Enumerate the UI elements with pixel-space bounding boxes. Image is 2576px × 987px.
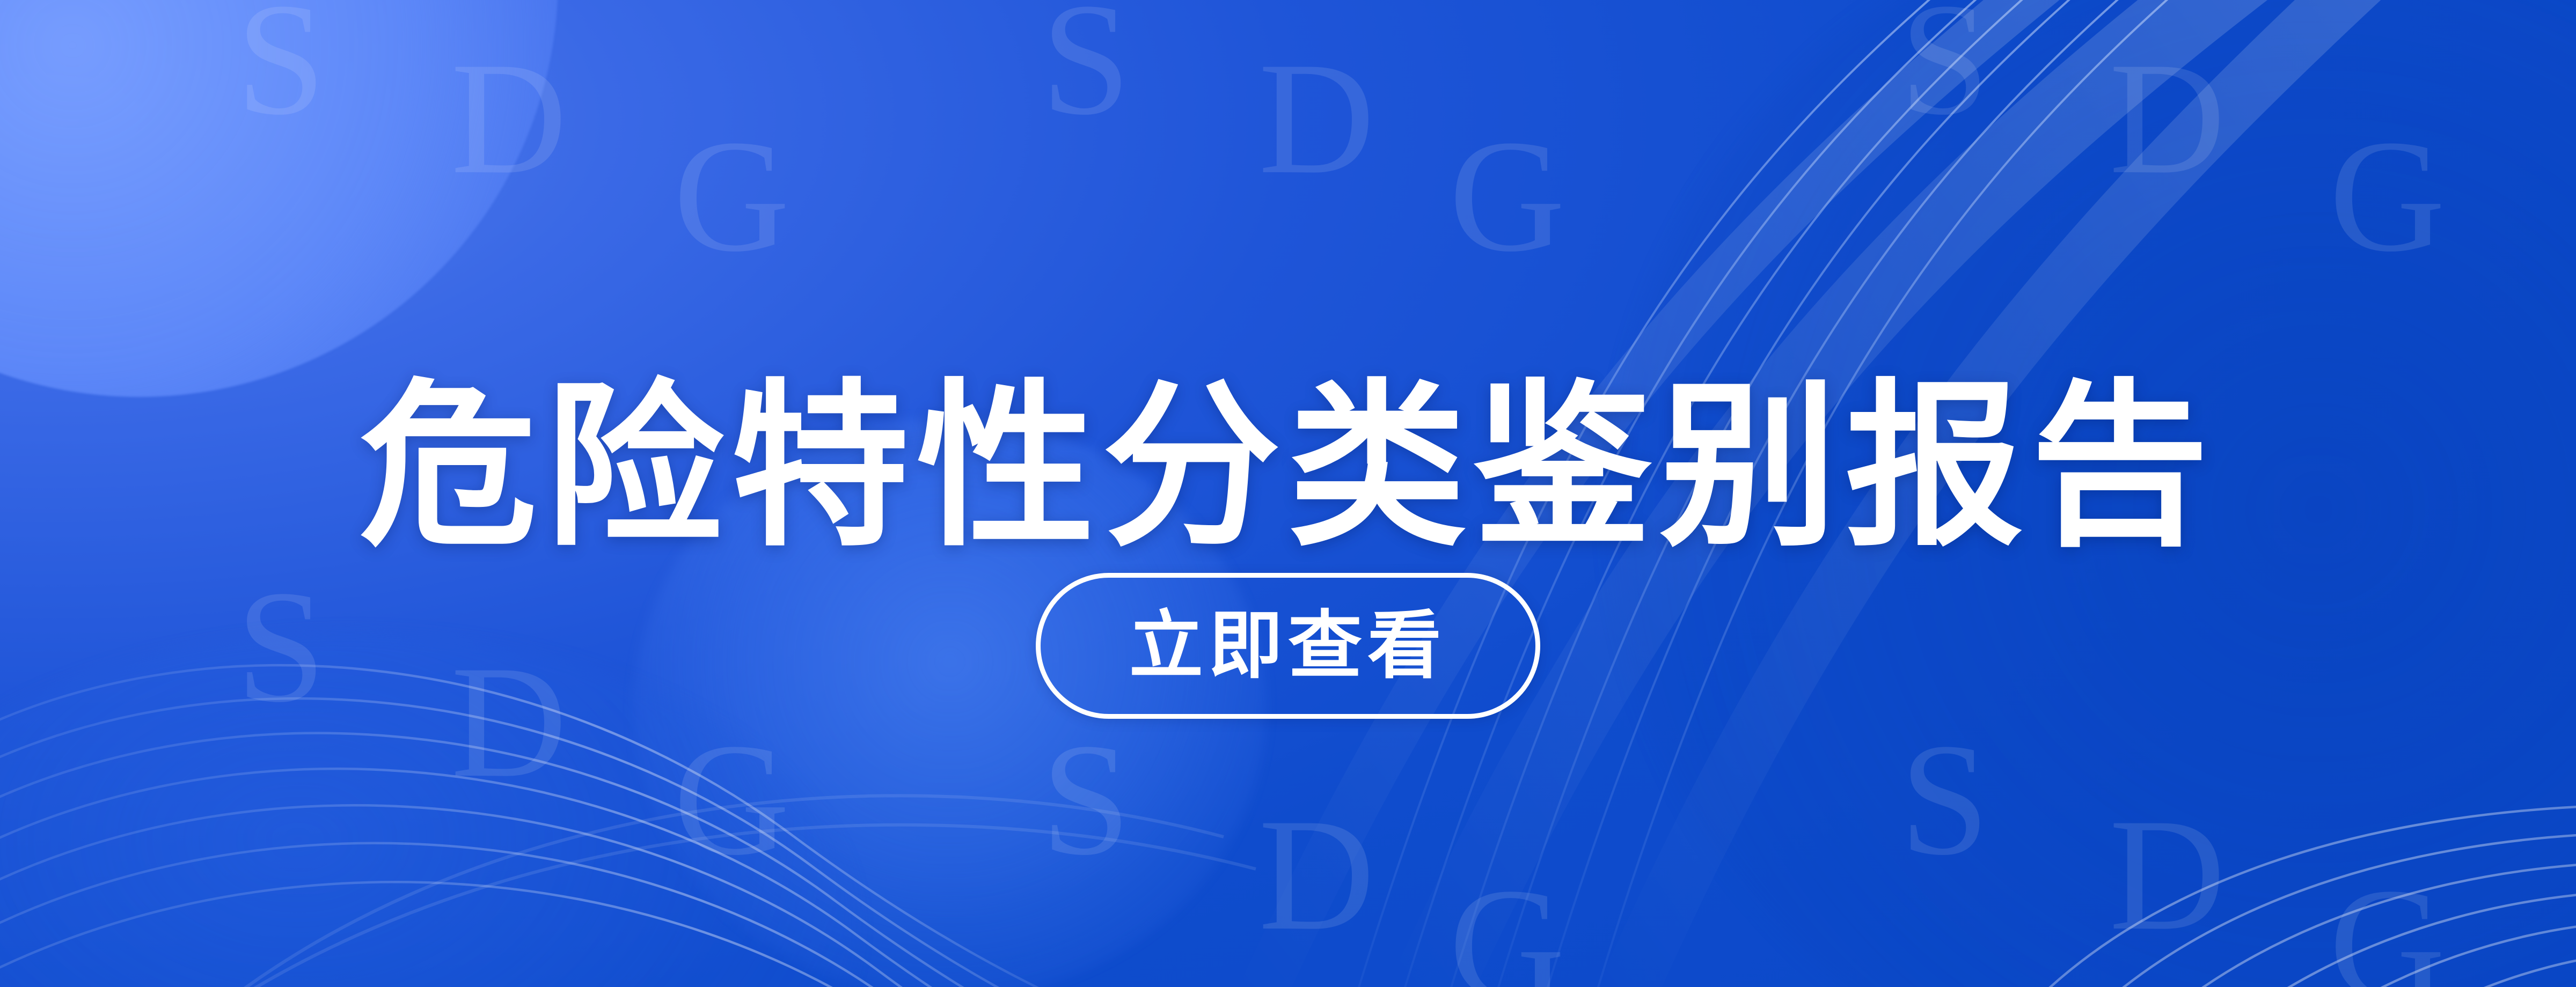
arc-fan-bottom-right (2018, 805, 2576, 987)
banner-title: 危险特性分类鉴别报告 (360, 371, 2216, 564)
cta-container: 立即查看 (0, 573, 2576, 719)
promo-banner: SDGSDGSDGSDGSDGSDG 危险特性分类鉴别报告 立即查看 (0, 0, 2576, 987)
view-now-button-label: 立即查看 (1129, 609, 1447, 683)
view-now-button[interactable]: 立即查看 (1036, 573, 1540, 719)
